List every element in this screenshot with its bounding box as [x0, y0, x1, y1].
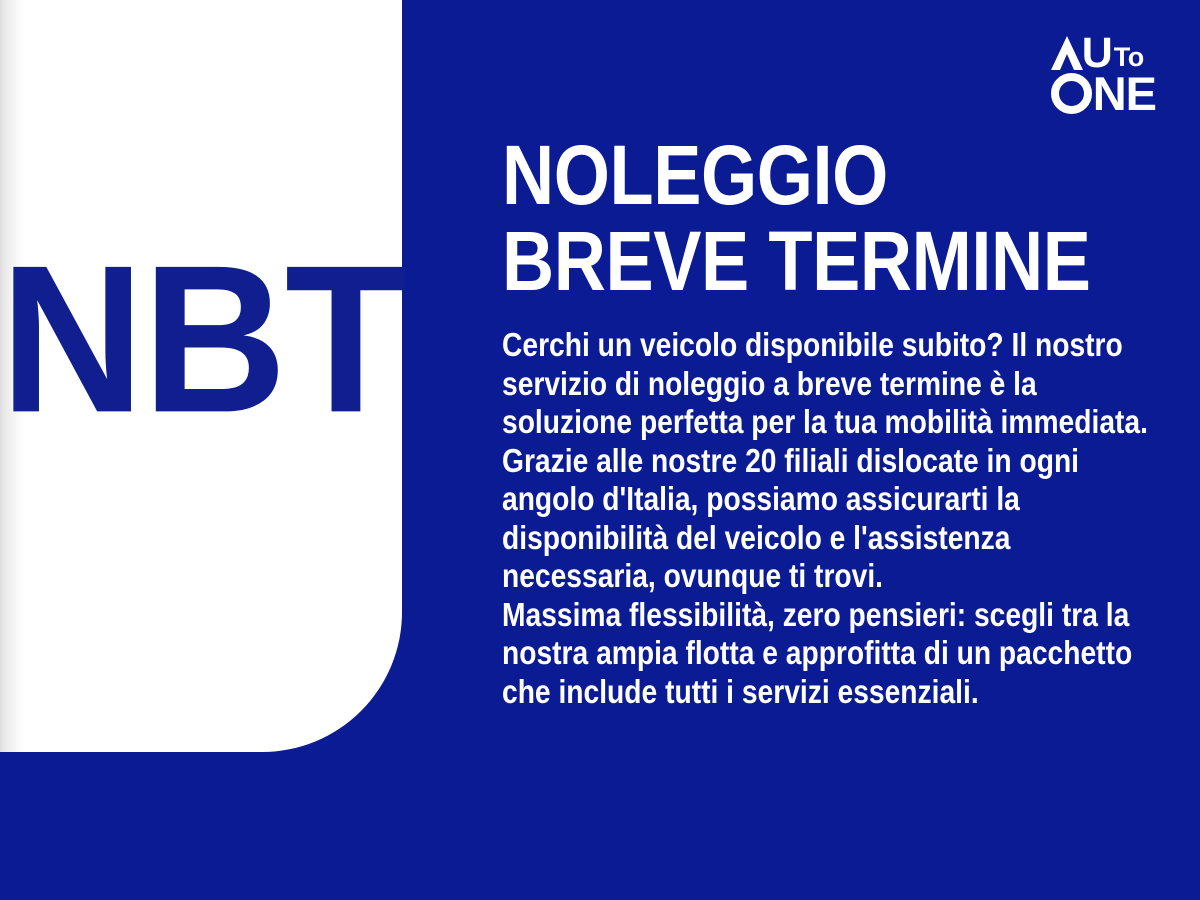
headline-line-2: BREVE TERMINE: [502, 218, 1070, 304]
logo-line-one: NE: [1051, 72, 1156, 114]
body-paragraph-2: Grazie alle nostre 20 filiali dislocate …: [502, 442, 1156, 596]
auto-one-logo: U To NE: [1051, 32, 1156, 114]
promo-poster: NBT U To NE NOLEGGIO BREVE TERMINE Cerch…: [0, 0, 1200, 900]
logo-u-letter: U: [1082, 36, 1112, 70]
logo-o-ring-icon: [1051, 73, 1092, 114]
logo-line-auto: U To: [1051, 32, 1156, 70]
headline-line-1: NOLEGGIO: [502, 132, 1070, 218]
body-paragraph-1: Cerchi un veicolo disponibile subito? Il…: [502, 326, 1156, 442]
page-title: NOLEGGIO BREVE TERMINE: [502, 0, 1070, 304]
nbt-abbreviation: NBT: [0, 235, 402, 445]
logo-ne-letters: NE: [1093, 73, 1156, 114]
body-copy: Cerchi un veicolo disponibile subito? Il…: [502, 304, 1156, 711]
body-paragraph-3: Massima flessibilità, zero pensieri: sce…: [502, 596, 1156, 712]
logo-a-icon: [1051, 36, 1083, 70]
